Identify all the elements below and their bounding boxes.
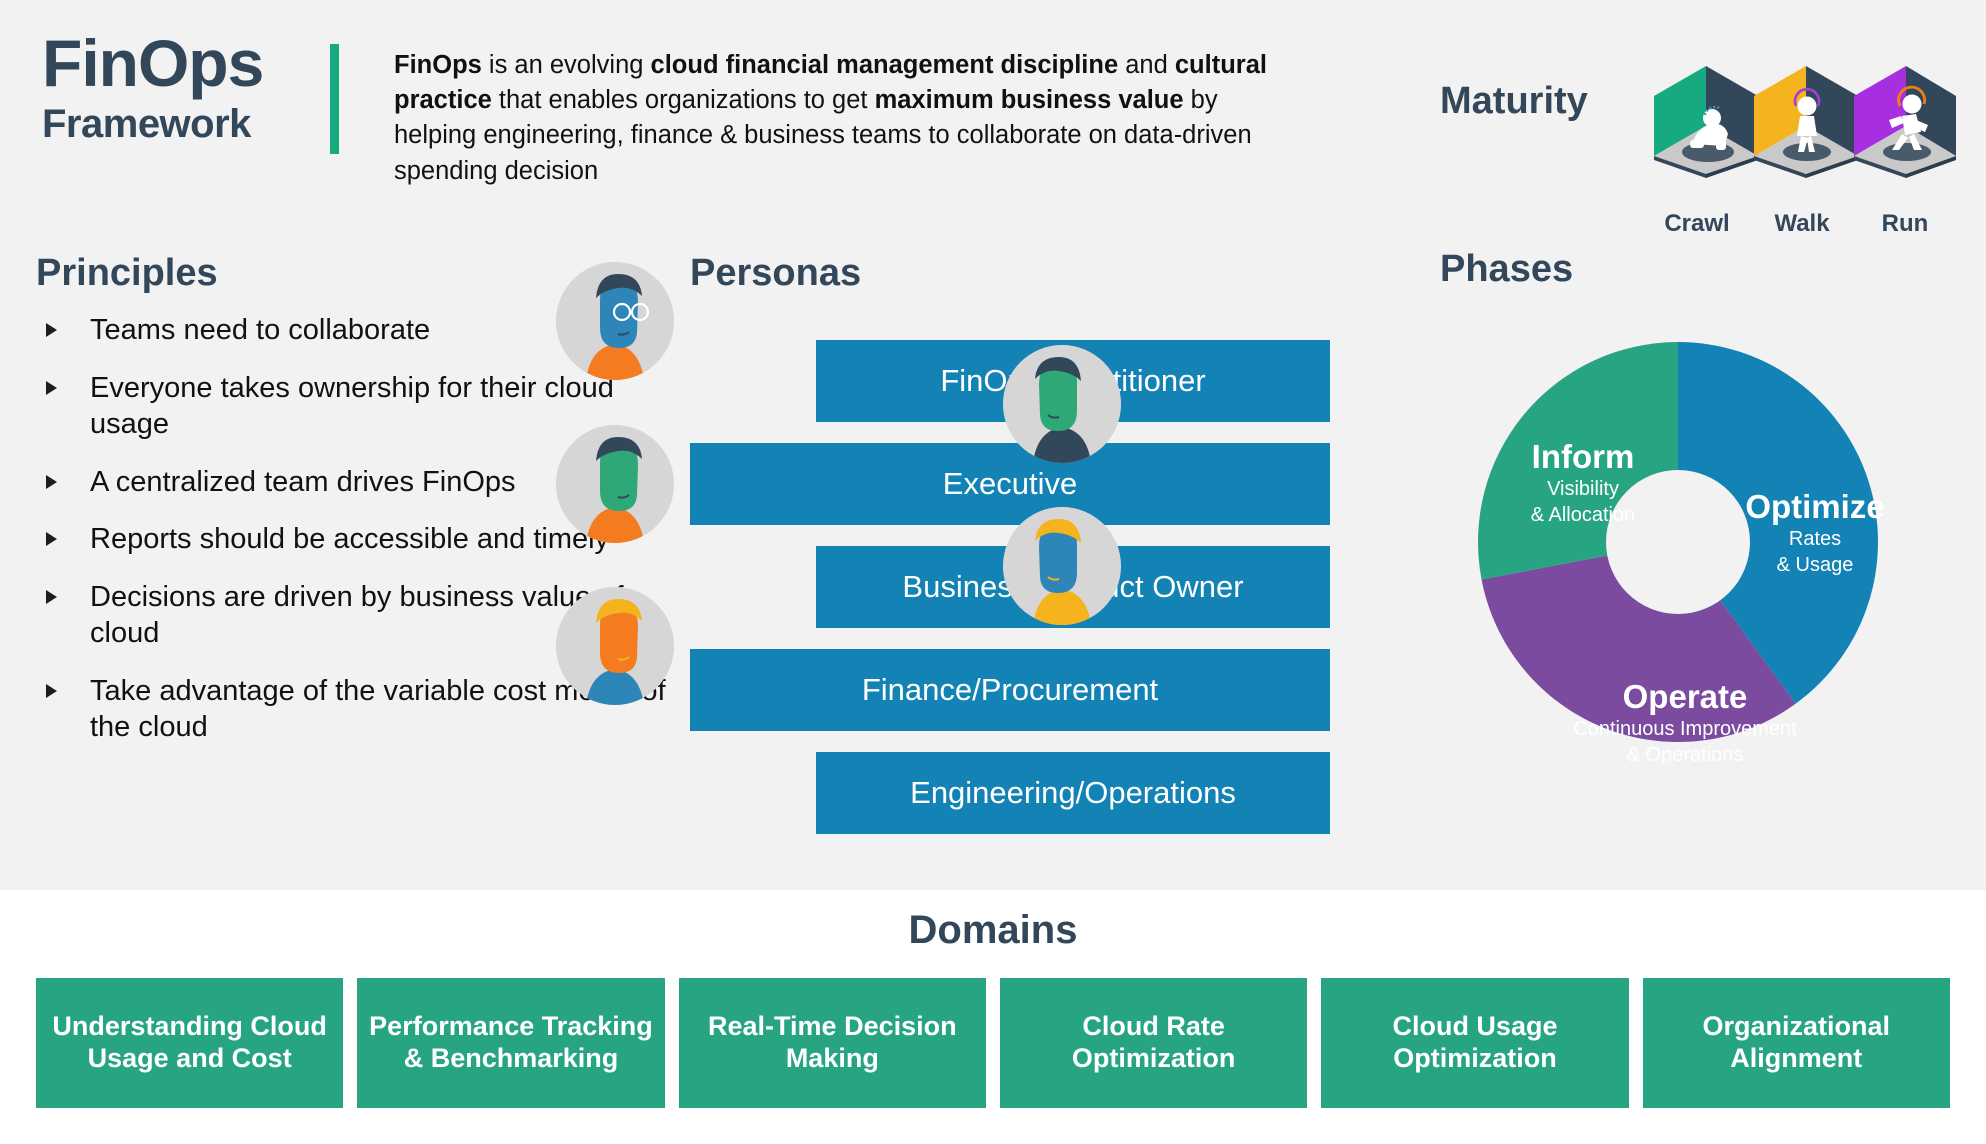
maturity-label-run: Run bbox=[1882, 210, 1929, 238]
principle-text: Decisions are driven by business value o… bbox=[90, 581, 624, 650]
bullet-triangle-icon bbox=[46, 590, 57, 604]
bullet-triangle-icon bbox=[46, 381, 57, 395]
persona-bar[interactable]: Engineering/Operations bbox=[816, 752, 1330, 834]
bullet-triangle-icon bbox=[46, 323, 57, 337]
domain-card-label: Performance Tracking & Benchmarking bbox=[367, 1011, 654, 1074]
domains-card-row: Understanding Cloud Usage and CostPerfor… bbox=[36, 978, 1950, 1108]
intro-segment-0: FinOps bbox=[394, 51, 482, 79]
maturity-stage-labels: Crawl Walk Run bbox=[1650, 210, 1960, 240]
domain-card-label: Cloud Rate Optimization bbox=[1010, 1011, 1297, 1074]
maturity-label-crawl: Crawl bbox=[1664, 210, 1729, 238]
intro-segment-2: cloud financial management discipline bbox=[651, 51, 1119, 79]
bullet-triangle-icon bbox=[46, 684, 57, 698]
maturity-illustration bbox=[1650, 48, 1960, 178]
domain-card-label: Real-Time Decision Making bbox=[689, 1011, 976, 1074]
intro-segment-1: is an evolving bbox=[482, 51, 651, 79]
domain-card[interactable]: Cloud Usage Optimization bbox=[1321, 978, 1628, 1108]
domain-card[interactable]: Performance Tracking & Benchmarking bbox=[357, 978, 664, 1108]
finops-framework-infographic: FinOps Framework FinOps is an evolving c… bbox=[0, 0, 1986, 1144]
phases-heading: Phases bbox=[1440, 248, 1573, 291]
domain-card[interactable]: Cloud Rate Optimization bbox=[1000, 978, 1307, 1108]
maturity-stage-run-icon bbox=[1854, 66, 1956, 178]
persona-avatar bbox=[556, 425, 674, 543]
persona-avatar bbox=[1003, 345, 1121, 463]
persona-avatar bbox=[556, 587, 674, 705]
persona-avatar bbox=[1003, 507, 1121, 625]
persona-label: Engineering/Operations bbox=[910, 775, 1236, 811]
maturity-label-walk: Walk bbox=[1774, 210, 1829, 238]
personas-heading: Personas bbox=[690, 252, 861, 295]
persona-bar[interactable]: Finance/Procurement bbox=[690, 649, 1330, 731]
domain-card-label: Understanding Cloud Usage and Cost bbox=[46, 1011, 333, 1074]
brand-subtitle: Framework bbox=[42, 100, 342, 148]
domain-card[interactable]: Organizational Alignment bbox=[1643, 978, 1950, 1108]
brand-block: FinOps Framework bbox=[42, 30, 342, 148]
bullet-triangle-icon bbox=[46, 532, 57, 546]
maturity-stage-crawl-icon bbox=[1654, 66, 1758, 178]
domains-heading: Domains bbox=[0, 908, 1986, 953]
persona-avatar bbox=[556, 262, 674, 380]
principle-text: A centralized team drives FinOps bbox=[90, 466, 516, 498]
principles-heading: Principles bbox=[36, 252, 218, 295]
donut-hole bbox=[1606, 470, 1750, 614]
maturity-heading: Maturity bbox=[1440, 80, 1588, 123]
phases-donut-chart bbox=[1458, 322, 1898, 762]
domain-card-label: Organizational Alignment bbox=[1653, 1011, 1940, 1074]
persona-label: Finance/Procurement bbox=[862, 672, 1158, 708]
intro-segment-6: maximum business value bbox=[875, 86, 1184, 114]
principle-text: Reports should be accessible and timely bbox=[90, 523, 609, 555]
maturity-stage-walk-icon bbox=[1754, 66, 1858, 178]
principle-text: Everyone takes ownership for their cloud… bbox=[90, 372, 614, 441]
principle-text: Teams need to collaborate bbox=[90, 314, 430, 346]
persona-label: Executive bbox=[943, 466, 1077, 502]
domain-card[interactable]: Real-Time Decision Making bbox=[679, 978, 986, 1108]
brand-title: FinOps bbox=[42, 30, 342, 96]
intro-segment-5: that enables organizations to get bbox=[492, 86, 875, 114]
bullet-triangle-icon bbox=[46, 475, 57, 489]
domain-card[interactable]: Understanding Cloud Usage and Cost bbox=[36, 978, 343, 1108]
intro-segment-3: and bbox=[1118, 51, 1175, 79]
brand-divider-rule bbox=[330, 44, 339, 154]
intro-paragraph: FinOps is an evolving cloud financial ma… bbox=[394, 48, 1274, 189]
domain-card-label: Cloud Usage Optimization bbox=[1331, 1011, 1618, 1074]
